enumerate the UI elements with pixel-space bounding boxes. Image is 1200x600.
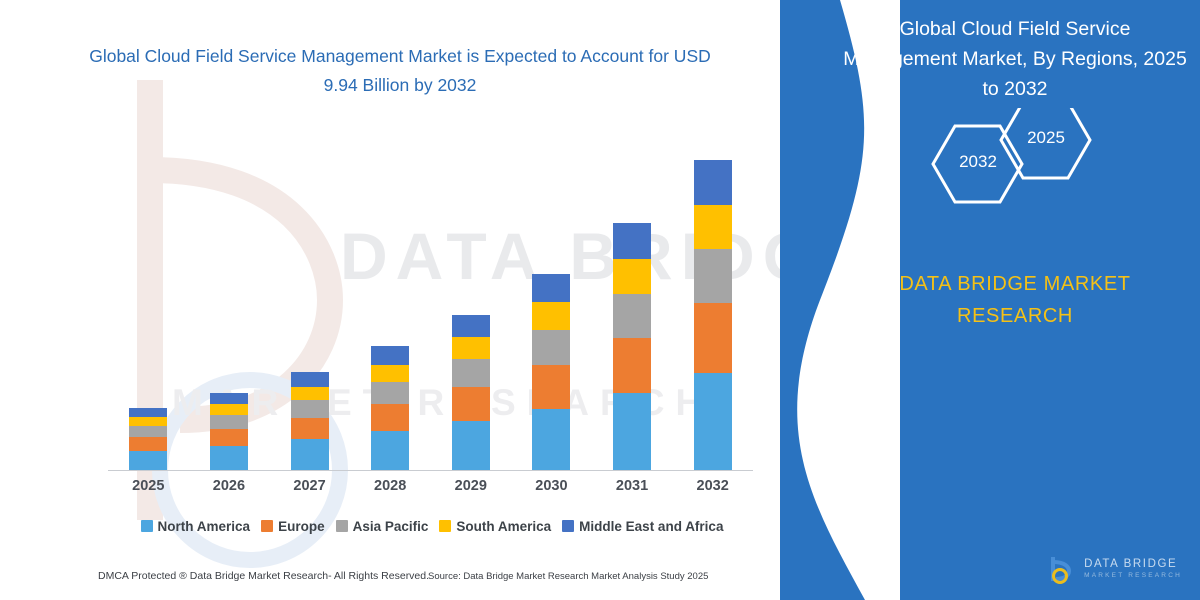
bar-segment	[532, 409, 570, 470]
legend-label: Asia Pacific	[353, 519, 429, 534]
bar-segment	[371, 382, 409, 404]
x-axis-labels: 20252026202720282029203020312032	[108, 478, 753, 502]
x-axis-tick-label: 2031	[597, 478, 667, 494]
x-axis-tick-label: 2029	[436, 478, 506, 494]
bar-segment	[532, 274, 570, 303]
bar-segment	[613, 393, 651, 470]
bar-segment	[129, 426, 167, 437]
bar-group	[210, 393, 248, 470]
bar-segment	[210, 446, 248, 470]
bar-group	[371, 346, 409, 470]
chart-area: DATA BRIDGE MARKET RESEARCH Global Cloud…	[0, 0, 800, 600]
bar-group	[613, 223, 651, 470]
bar-segment	[452, 421, 490, 470]
bar-segment	[452, 387, 490, 422]
legend-label: South America	[456, 519, 551, 534]
legend-label: Middle East and Africa	[579, 519, 723, 534]
bar-segment	[694, 373, 732, 470]
bar-group	[694, 160, 732, 470]
bar-segment	[371, 431, 409, 470]
bar-segment	[694, 160, 732, 205]
x-axis-tick-label: 2032	[678, 478, 748, 494]
x-axis-tick-label: 2026	[194, 478, 264, 494]
brand-name: DATA BRIDGE MARKET RESEARCH	[840, 268, 1190, 332]
legend-swatch-icon	[336, 520, 348, 532]
legend-swatch-icon	[261, 520, 273, 532]
bar-segment	[613, 259, 651, 294]
bar-segment	[291, 418, 329, 440]
bar-segment	[694, 249, 732, 304]
bar-segment	[291, 400, 329, 417]
stacked-bar-plot	[108, 140, 753, 470]
bar-group	[532, 274, 570, 470]
legend-item[interactable]: North America	[141, 519, 251, 534]
bar-segment	[129, 437, 167, 451]
bar-segment	[129, 451, 167, 470]
bar-segment	[613, 338, 651, 393]
legend-label: Europe	[278, 519, 325, 534]
bar-segment	[129, 417, 167, 426]
bar-segment	[210, 429, 248, 446]
corner-logo: DATA BRIDGE MARKET RESEARCH	[1047, 554, 1182, 584]
x-axis-tick-label: 2028	[355, 478, 425, 494]
footer-copyright: DMCA Protected ® Data Bridge Market Rese…	[98, 570, 429, 582]
bar-segment	[613, 294, 651, 338]
legend-swatch-icon	[562, 520, 574, 532]
panel-title: Global Cloud Field Service Management Ma…	[840, 14, 1190, 104]
brand-line-2: RESEARCH	[840, 300, 1190, 332]
bar-segment	[129, 408, 167, 417]
legend-swatch-icon	[141, 520, 153, 532]
bar-segment	[532, 302, 570, 330]
bar-segment	[452, 359, 490, 386]
hexagon-2025-label: 2025	[1011, 128, 1081, 148]
bar-segment	[210, 404, 248, 415]
bar-segment	[452, 337, 490, 359]
infographic-page: DATA BRIDGE MARKET RESEARCH Global Cloud…	[0, 0, 1200, 600]
bar-segment	[291, 372, 329, 386]
bar-segment	[291, 439, 329, 470]
bar-segment	[210, 415, 248, 429]
bar-segment	[694, 303, 732, 372]
corner-logo-text: DATA BRIDGE	[1084, 558, 1182, 571]
bar-group	[452, 315, 490, 470]
footer-source: Source: Data Bridge Market Research Mark…	[428, 571, 708, 582]
legend-label: North America	[158, 519, 251, 534]
bar-group	[291, 372, 329, 470]
legend-item[interactable]: Asia Pacific	[336, 519, 429, 534]
legend-item[interactable]: Europe	[261, 519, 325, 534]
bar-segment	[694, 205, 732, 249]
legend-item[interactable]: South America	[439, 519, 551, 534]
bar-segment	[532, 330, 570, 365]
x-axis-tick-label: 2025	[113, 478, 183, 494]
x-axis-tick-label: 2027	[275, 478, 345, 494]
brand-line-1: DATA BRIDGE MARKET	[840, 268, 1190, 300]
hexagon-years: 2032 2025	[895, 108, 1195, 218]
bar-segment	[452, 315, 490, 338]
bar-segment	[291, 387, 329, 401]
bar-segment	[371, 346, 409, 364]
legend-item[interactable]: Middle East and Africa	[562, 519, 723, 534]
legend-swatch-icon	[439, 520, 451, 532]
bar-group	[129, 408, 167, 470]
bar-segment	[532, 365, 570, 409]
x-axis-line	[108, 470, 753, 471]
bar-segment	[371, 365, 409, 382]
bar-segment	[613, 223, 651, 259]
bar-segment	[371, 404, 409, 431]
chart-title: Global Cloud Field Service Management Ma…	[75, 42, 725, 100]
hexagon-2032-label: 2032	[943, 152, 1013, 172]
corner-logo-subtext: MARKET RESEARCH	[1084, 571, 1182, 580]
right-panel: Global Cloud Field Service Management Ma…	[780, 0, 1200, 600]
chart-legend: North AmericaEuropeAsia PacificSouth Ame…	[108, 514, 756, 538]
hexagon-shapes	[895, 108, 1195, 218]
bridge-logo-icon	[1047, 554, 1077, 584]
x-axis-tick-label: 2030	[516, 478, 586, 494]
bar-segment	[210, 393, 248, 404]
